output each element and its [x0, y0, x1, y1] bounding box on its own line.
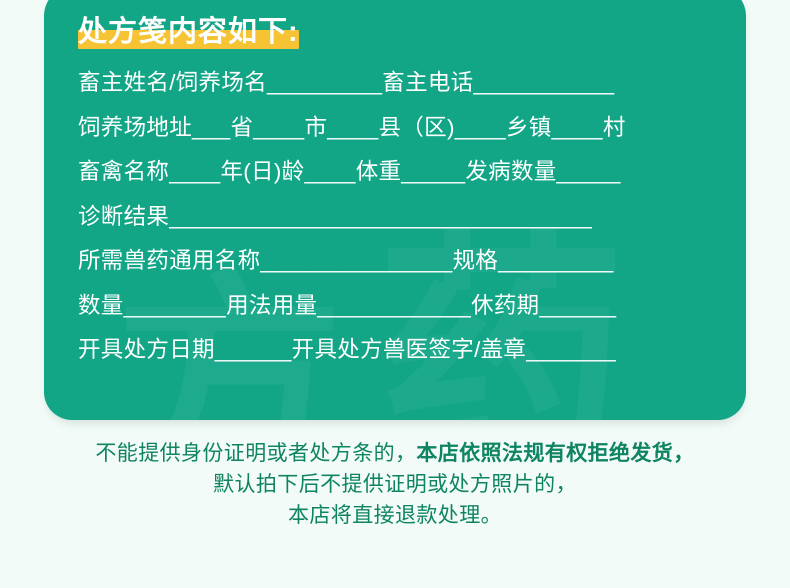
form-line-farm-address: 饲养场地址___省____市____县（区)____乡镇____村 [78, 117, 726, 140]
page-root: 药 方 处方笺内容如下: 畜主姓名/饲养场名_________畜主电话_____… [0, 0, 790, 588]
page-title: 处方笺内容如下: [78, 14, 299, 50]
form-line-date-signature: 开具处方日期______开具处方兽医签字/盖章_______ [78, 339, 726, 362]
form-line-animal-info: 畜禽名称____年(日)龄____体重_____发病数量_____ [78, 161, 726, 184]
notice-line-1-strong: 本店依照法规有权拒绝发货， [416, 442, 694, 465]
prescription-card-content: 处方笺内容如下: 畜主姓名/饲养场名_________畜主电话_________… [78, 14, 726, 362]
notice-line-1: 不能提供身份证明或者处方条的，本店依照法规有权拒绝发货， [0, 438, 790, 469]
prescription-card: 药 方 处方笺内容如下: 畜主姓名/饲养场名_________畜主电话_____… [44, 0, 746, 420]
prescription-form-lines: 畜主姓名/饲养场名_________畜主电话___________ 饲养场地址_… [78, 72, 726, 362]
notice-line-1-normal: 不能提供身份证明或者处方条的， [95, 442, 416, 465]
form-line-owner-name: 畜主姓名/饲养场名_________畜主电话___________ [78, 72, 726, 95]
form-line-drug-name: 所需兽药通用名称_______________规格_________ [78, 250, 726, 273]
prescription-title-wrapper: 处方笺内容如下: [78, 14, 299, 50]
notice-block: 不能提供身份证明或者处方条的，本店依照法规有权拒绝发货， 默认拍下后不提供证明或… [0, 438, 790, 531]
notice-line-2: 默认拍下后不提供证明或处方照片的， [0, 469, 790, 500]
notice-line-3: 本店将直接退款处理。 [0, 500, 790, 531]
form-line-quantity-usage: 数量________用法用量____________休药期______ [78, 295, 726, 318]
form-line-diagnosis: 诊断结果_________________________________ [78, 206, 726, 229]
